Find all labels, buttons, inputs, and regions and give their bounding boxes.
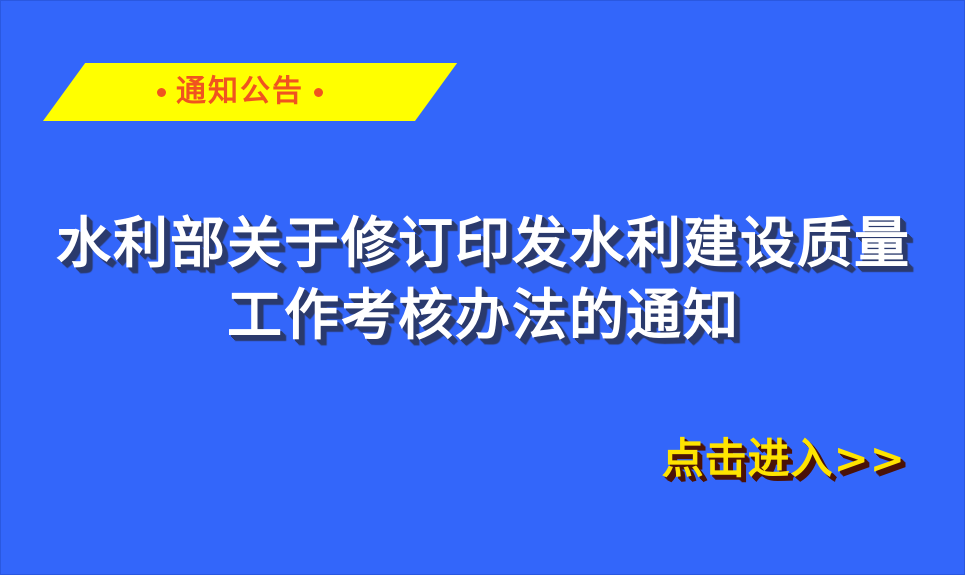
page-title: 水利部关于修订印发水利建设质量 工作考核办法的通知 <box>1 207 965 351</box>
headline-line-2: 工作考核办法的通知 <box>1 279 965 351</box>
bullet-dot-left-icon <box>157 88 166 97</box>
headline-line-1: 水利部关于修订印发水利建设质量 <box>1 207 965 279</box>
enter-link[interactable]: 点击进入>> <box>662 433 906 485</box>
announcement-banner: 通知公告 水利部关于修订印发水利建设质量 工作考核办法的通知 点击进入>> <box>0 0 965 575</box>
category-ribbon[interactable]: 通知公告 <box>43 63 415 121</box>
category-label: 通知公告 <box>176 77 304 107</box>
bullet-dot-right-icon <box>314 88 323 97</box>
